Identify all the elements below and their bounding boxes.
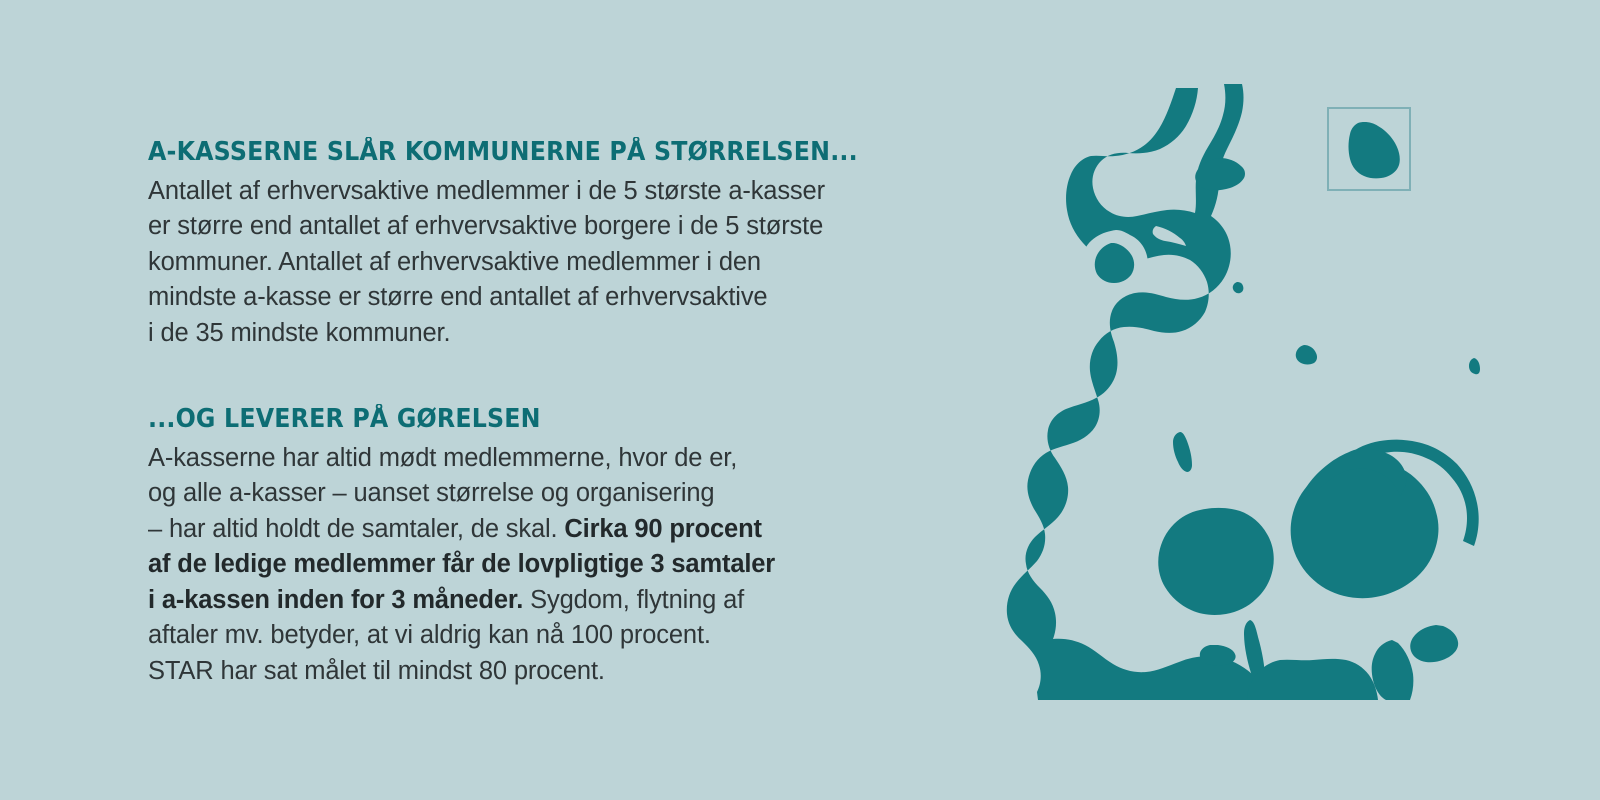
highlight-phrase-start: Cirka 90 procent [564, 515, 761, 543]
block-one-line-4: mindste a-kasse er større end antallet a… [148, 283, 767, 311]
block-two-line-3: – har altid holdt de samtaler, de skal. … [148, 515, 762, 543]
block-one-line-3: kommuner. Antallet af erhvervsaktive med… [148, 248, 761, 276]
block-two-line-1: A-kasserne har altid mødt medlemmerne, h… [148, 444, 737, 472]
text-block-one: A-KASSERNE SLÅR KOMMUNERNE PÅ STØRRELSEN… [148, 138, 908, 351]
block-two-body: A-kasserne har altid mødt medlemmerne, h… [148, 441, 908, 690]
text-column: A-KASSERNE SLÅR KOMMUNERNE PÅ STØRRELSEN… [148, 138, 908, 689]
block-two-line-4: af de ledige medlemmer får de lovpligtig… [148, 550, 775, 578]
denmark-map [880, 80, 1480, 700]
block-one-line-2: er større end antallet af erhvervsaktive… [148, 212, 823, 240]
text-block-two: ...OG LEVERER PÅ GØRELSEN A-kasserne har… [148, 405, 908, 689]
block-two-line-5: i a-kassen inden for 3 måneder. Sygdom, … [148, 586, 744, 614]
block-one-body: Antallet af erhvervsaktive medlemmer i d… [148, 174, 908, 352]
block-two-heading: ...OG LEVERER PÅ GØRELSEN [148, 405, 855, 435]
block-two-line-6: aftaler mv. betyder, at vi aldrig kan nå… [148, 621, 711, 649]
infographic-root: A-KASSERNE SLÅR KOMMUNERNE PÅ STØRRELSEN… [0, 0, 1600, 800]
block-one-heading: A-KASSERNE SLÅR KOMMUNERNE PÅ STØRRELSEN… [148, 138, 855, 168]
block-one-line-1: Antallet af erhvervsaktive medlemmer i d… [148, 177, 825, 205]
block-two-line-7: STAR har sat målet til mindst 80 procent… [148, 657, 605, 685]
block-one-line-5: i de 35 mindste kommuner. [148, 319, 450, 347]
block-two-line-2: og alle a-kasser – uanset størrelse og o… [148, 479, 714, 507]
highlight-phrase-end: i a-kassen inden for 3 måneder. [148, 586, 523, 614]
denmark-final [880, 80, 1480, 700]
